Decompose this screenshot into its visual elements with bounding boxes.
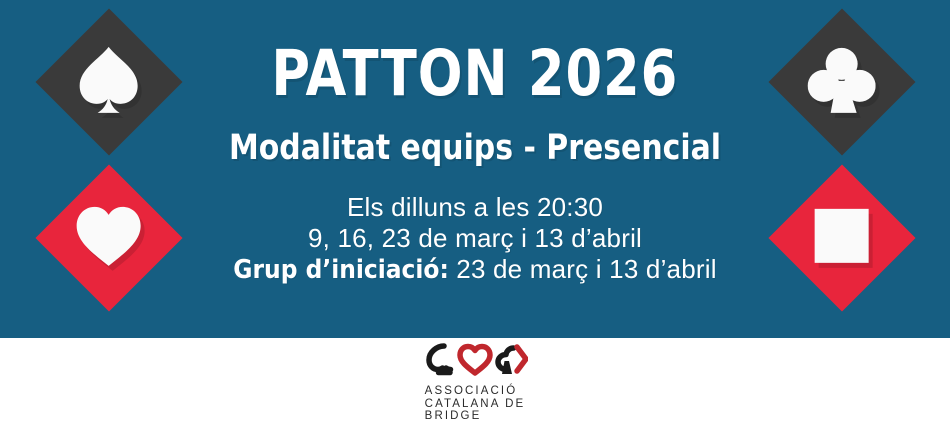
page-title: PATTON 2026: [272, 42, 679, 105]
detail-line-1: Els dilluns a les 20:30: [233, 192, 716, 223]
poster-banner: PATTON 2026 Modalitat equips - Presencia…: [0, 0, 950, 433]
acb-wordmark-line-3: BRIDGE: [425, 410, 526, 423]
detail-line-1-text: Els dilluns a les 20:30: [347, 192, 603, 222]
detail-line-3-text: 23 de març i 13 d’abril: [456, 254, 716, 284]
detail-line-3: Grup d’iniciació: 23 de març i 13 d’abri…: [233, 254, 716, 286]
headline-block: PATTON 2026 Modalitat equips - Presencia…: [0, 0, 950, 338]
poster-subtitle: Modalitat equips - Presencial: [229, 131, 721, 166]
detail-line-2-text: 9, 16, 23 de març i 13 d’abril: [308, 223, 642, 253]
detail-lines: Els dilluns a les 20:30 9, 16, 23 de mar…: [233, 192, 716, 286]
detail-line-2: 9, 16, 23 de març i 13 d’abril: [233, 223, 716, 254]
acb-wordmark-line-1: ASSOCIACIÓ: [425, 385, 526, 398]
acb-wordmark-line-2: CATALANA DE: [425, 398, 526, 411]
acb-logo: ASSOCIACIÓ CATALANA DE BRIDGE: [0, 341, 950, 423]
acb-logo-mark: [422, 341, 528, 382]
detail-line-3-lead: Grup d’iniciació:: [233, 255, 449, 285]
acb-wordmark: ASSOCIACIÓ CATALANA DE BRIDGE: [425, 385, 526, 423]
